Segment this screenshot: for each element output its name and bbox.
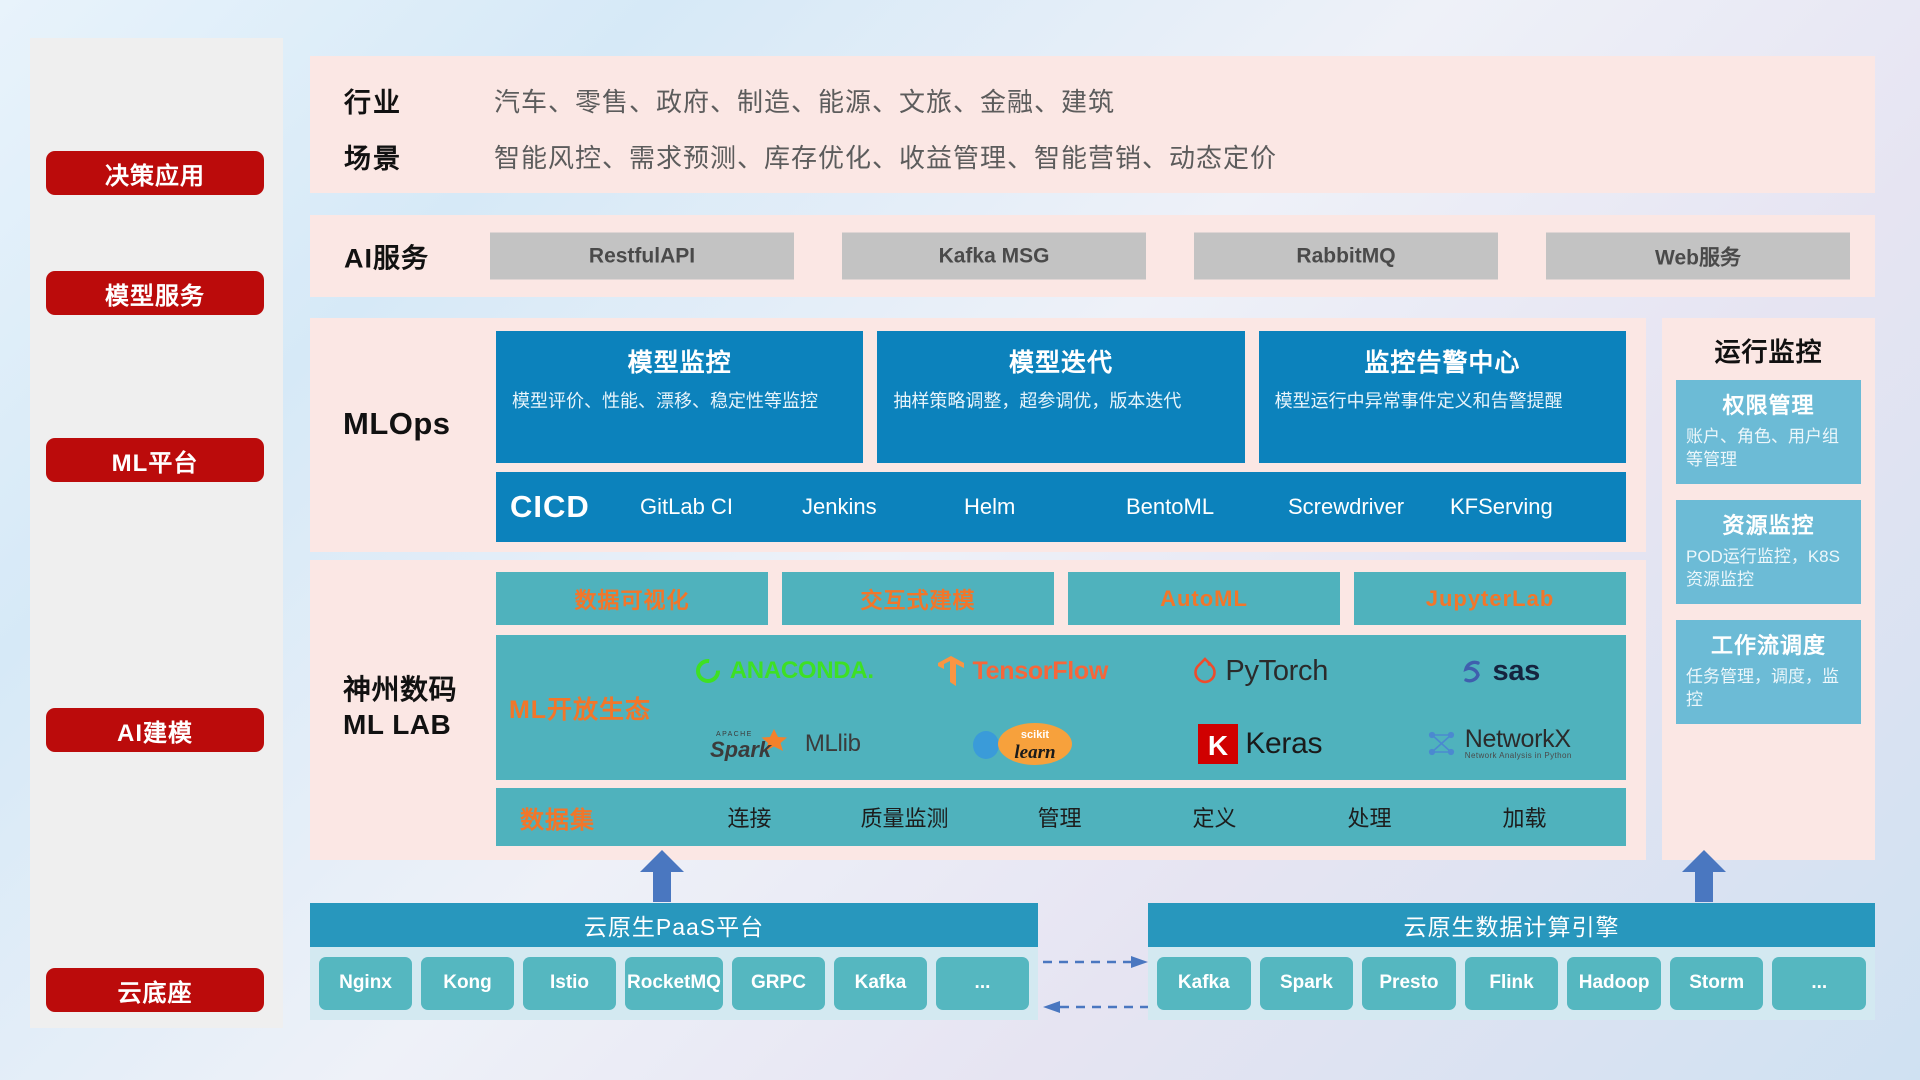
- mlops-panel: MLOps 模型监控 模型评价、性能、漂移、稳定性等监控 模型迭代 抽样策略调整…: [310, 318, 1646, 552]
- rail-label-text: 模型服务: [105, 276, 205, 311]
- rail-label-text: 云底座: [118, 973, 193, 1008]
- sas-logo: sas: [1458, 655, 1541, 688]
- rail-item-decision-app[interactable]: 决策应用: [46, 151, 264, 195]
- dataset-title: 数据集: [520, 800, 672, 835]
- scenario-values: 智能风控、需求预测、库存优化、收益管理、智能营销、动态定价: [494, 138, 1277, 175]
- cloud-native-compute-block: 云原生数据计算引擎 Kafka Spark Presto Flink Hadoo…: [1148, 903, 1875, 1020]
- paas-chip-rocketmq[interactable]: RocketMQ: [625, 957, 723, 1010]
- dashed-arrow-right-icon: [1043, 955, 1143, 957]
- tensorflow-mark-icon: [936, 655, 966, 687]
- eco-logo-grid: ANACONDA. TensorFlow PyTorch: [664, 635, 1626, 780]
- card-desc: 模型运行中异常事件定义和告警提醒: [1275, 389, 1610, 414]
- compute-chip-more[interactable]: ...: [1772, 957, 1866, 1010]
- networkx-tagline: Network Analysis in Python: [1465, 752, 1572, 760]
- keras-wordmark: Keras: [1245, 727, 1322, 761]
- arrow-up-paas-icon: [640, 850, 684, 902]
- card-title: 工作流调度: [1686, 628, 1851, 660]
- spark-mllib-logo: APACHE Spark MLlib: [706, 727, 861, 761]
- compute-chip-kafka[interactable]: Kafka: [1157, 957, 1251, 1010]
- scikit-learn-logo: scikit learn: [969, 721, 1074, 767]
- card-title: 权限管理: [1686, 388, 1851, 420]
- tensorflow-wordmark: TensorFlow: [973, 657, 1108, 686]
- ai-service-kafka-msg[interactable]: Kafka MSG: [842, 233, 1146, 280]
- decision-application-panel: 行业 汽车、零售、政府、制造、能源、文旅、金融、建筑 场景 智能风控、需求预测、…: [310, 56, 1875, 193]
- industry-label: 行业: [310, 81, 494, 120]
- keras-logo: K Keras: [1198, 724, 1322, 764]
- keras-mark-icon: K: [1198, 724, 1238, 764]
- anaconda-logo: ANACONDA.: [693, 656, 874, 686]
- paas-chip-kong[interactable]: Kong: [421, 957, 514, 1010]
- card-title: 模型迭代: [893, 343, 1228, 379]
- dataset-item-processing[interactable]: 处理: [1292, 801, 1447, 833]
- paas-title: 云原生PaaS平台: [310, 903, 1038, 947]
- mllib-wordmark: MLlib: [805, 730, 861, 758]
- spark-mark-icon: APACHE Spark: [706, 727, 798, 761]
- sas-wordmark: sas: [1493, 655, 1541, 688]
- paas-chip-kafka[interactable]: Kafka: [834, 957, 927, 1010]
- svg-text:learn: learn: [1015, 742, 1056, 763]
- compute-chip-storm[interactable]: Storm: [1670, 957, 1764, 1010]
- card-title: 模型监控: [512, 343, 847, 379]
- anaconda-mark-icon: [693, 656, 723, 686]
- tool-automl[interactable]: AutoML: [1068, 572, 1340, 625]
- arrow-up-compute-icon: [1682, 850, 1726, 902]
- mlops-card-model-monitoring[interactable]: 模型监控 模型评价、性能、漂移、稳定性等监控: [496, 331, 863, 463]
- rail-label-text: 决策应用: [105, 156, 205, 191]
- pytorch-logo: PyTorch: [1192, 655, 1328, 688]
- scenario-label: 场景: [310, 137, 494, 176]
- paas-chip-more[interactable]: ...: [936, 957, 1029, 1010]
- pytorch-wordmark: PyTorch: [1225, 655, 1328, 688]
- cicd-item-list: GitLab CI Jenkins Helm BentoML Screwdriv…: [640, 494, 1612, 520]
- cicd-item-helm[interactable]: Helm: [964, 494, 1126, 520]
- cloud-native-paas-block: 云原生PaaS平台 Nginx Kong Istio RocketMQ GRPC…: [310, 903, 1038, 1020]
- mlops-card-list: 模型监控 模型评价、性能、漂移、稳定性等监控 模型迭代 抽样策略调整，超参调优，…: [496, 331, 1626, 463]
- dataset-item-list: 连接 质量监测 管理 定义 处理 加载: [672, 801, 1602, 833]
- rail-item-ml-platform[interactable]: ML平台: [46, 438, 264, 482]
- compute-chip-list: Kafka Spark Presto Flink Hadoop Storm ..…: [1148, 947, 1875, 1020]
- ai-service-web[interactable]: Web服务: [1546, 233, 1850, 280]
- tensorflow-logo: TensorFlow: [936, 655, 1108, 687]
- dataset-item-management[interactable]: 管理: [982, 801, 1137, 833]
- rail-item-model-service[interactable]: 模型服务: [46, 271, 264, 315]
- card-title: 监控告警中心: [1275, 343, 1610, 379]
- cicd-item-jenkins[interactable]: Jenkins: [802, 494, 964, 520]
- diagram-canvas: 决策应用 模型服务 ML平台 AI建模 云底座 行业 汽车、零售、政府、制造、能…: [0, 0, 1920, 1080]
- networkx-logo: NetworkX Network Analysis in Python: [1426, 727, 1572, 760]
- rail-item-ai-modeling[interactable]: AI建模: [46, 708, 264, 752]
- paas-chip-istio[interactable]: Istio: [523, 957, 616, 1010]
- tool-jupyterlab[interactable]: JupyterLab: [1354, 572, 1626, 625]
- dataset-item-connect[interactable]: 连接: [672, 801, 827, 833]
- dashed-arrow-left-icon: [1043, 1000, 1143, 1002]
- ml-lab-label-line2: ML LAB: [343, 707, 457, 742]
- ai-service-rabbitmq[interactable]: RabbitMQ: [1194, 233, 1498, 280]
- ai-service-list: RestfulAPI Kafka MSG RabbitMQ Web服务: [490, 233, 1850, 280]
- monitor-card-workflow[interactable]: 工作流调度 任务管理，调度，监控: [1676, 620, 1861, 724]
- rail-label-text: ML平台: [112, 443, 199, 478]
- pytorch-flame-icon: [1192, 656, 1218, 686]
- cicd-item-bentoml[interactable]: BentoML: [1126, 494, 1288, 520]
- monitor-card-permission[interactable]: 权限管理 账户、角色、用户组等管理: [1676, 380, 1861, 484]
- cicd-item-screwdriver[interactable]: Screwdriver: [1288, 494, 1450, 520]
- mlops-label: MLOps: [343, 406, 451, 442]
- tool-data-visualization[interactable]: 数据可视化: [496, 572, 768, 625]
- card-desc: 账户、角色、用户组等管理: [1686, 426, 1851, 472]
- sas-mark-icon: [1458, 657, 1486, 685]
- compute-chip-hadoop[interactable]: Hadoop: [1567, 957, 1661, 1010]
- ai-service-restfulapi[interactable]: RestfulAPI: [490, 233, 794, 280]
- compute-chip-flink[interactable]: Flink: [1465, 957, 1559, 1010]
- scikit-orange-blob-icon: scikit learn: [996, 721, 1074, 767]
- rail-item-cloud-base[interactable]: 云底座: [46, 968, 264, 1012]
- mlops-card-model-iteration[interactable]: 模型迭代 抽样策略调整，超参调优，版本迭代: [877, 331, 1244, 463]
- card-desc: 抽样策略调整，超参调优，版本迭代: [893, 389, 1228, 414]
- ml-open-ecosystem: ML开放生态 ANACONDA. TensorFlow: [496, 635, 1626, 780]
- networkx-wordmark: NetworkX: [1465, 727, 1572, 752]
- scenario-row: 场景 智能风控、需求预测、库存优化、收益管理、智能营销、动态定价: [310, 130, 1875, 182]
- svg-text:scikit: scikit: [1021, 729, 1049, 741]
- cicd-title: CICD: [510, 489, 640, 525]
- industry-row: 行业 汽车、零售、政府、制造、能源、文旅、金融、建筑: [310, 74, 1875, 126]
- ai-service-panel: AI服务 RestfulAPI Kafka MSG RabbitMQ Web服务: [310, 215, 1875, 297]
- dataset-item-loading[interactable]: 加载: [1447, 801, 1602, 833]
- mlops-card-alert-center[interactable]: 监控告警中心 模型运行中异常事件定义和告警提醒: [1259, 331, 1626, 463]
- compute-chip-spark[interactable]: Spark: [1260, 957, 1354, 1010]
- eco-title: ML开放生态: [496, 690, 664, 726]
- card-title: 资源监控: [1686, 508, 1851, 540]
- card-desc: 任务管理，调度，监控: [1686, 666, 1851, 712]
- cicd-item-gitlab-ci[interactable]: GitLab CI: [640, 494, 802, 520]
- svg-text:Spark: Spark: [710, 737, 773, 761]
- card-desc: 模型评价、性能、漂移、稳定性等监控: [512, 389, 847, 414]
- ai-service-label: AI服务: [344, 237, 429, 276]
- paas-chip-list: Nginx Kong Istio RocketMQ GRPC Kafka ...: [310, 947, 1038, 1020]
- dataset-item-definition[interactable]: 定义: [1137, 801, 1292, 833]
- cicd-bar: CICD GitLab CI Jenkins Helm BentoML Scre…: [496, 472, 1626, 542]
- tool-interactive-modeling[interactable]: 交互式建模: [782, 572, 1054, 625]
- ml-lab-label: 神州数码 ML LAB: [343, 672, 457, 742]
- monitor-card-resource[interactable]: 资源监控 POD运行监控，K8S资源监控: [1676, 500, 1861, 604]
- left-rail: 决策应用 模型服务 ML平台 AI建模 云底座: [30, 38, 283, 1028]
- rail-label-text: AI建模: [117, 713, 193, 748]
- card-desc: POD运行监控，K8S资源监控: [1686, 546, 1851, 592]
- cicd-item-kfserving[interactable]: KFServing: [1450, 494, 1612, 520]
- anaconda-wordmark: ANACONDA.: [730, 657, 874, 685]
- networkx-graph-icon: [1426, 728, 1458, 760]
- compute-engine-title: 云原生数据计算引擎: [1148, 903, 1875, 947]
- dataset-bar: 数据集 连接 质量监测 管理 定义 处理 加载: [496, 788, 1626, 846]
- runtime-monitoring-title: 运行监控: [1662, 332, 1875, 369]
- ml-lab-tool-list: 数据可视化 交互式建模 AutoML JupyterLab: [496, 572, 1626, 625]
- dataset-item-quality-monitoring[interactable]: 质量监测: [827, 801, 982, 833]
- ml-lab-panel: 神州数码 ML LAB 数据可视化 交互式建模 AutoML JupyterLa…: [310, 560, 1646, 860]
- svg-text:K: K: [1208, 730, 1228, 761]
- ml-lab-label-line1: 神州数码: [343, 672, 457, 707]
- paas-chip-nginx[interactable]: Nginx: [319, 957, 412, 1010]
- industry-values: 汽车、零售、政府、制造、能源、文旅、金融、建筑: [494, 82, 1115, 119]
- compute-chip-presto[interactable]: Presto: [1362, 957, 1456, 1010]
- paas-chip-grpc[interactable]: GRPC: [732, 957, 825, 1010]
- runtime-monitoring-panel: 运行监控 权限管理 账户、角色、用户组等管理 资源监控 POD运行监控，K8S资…: [1662, 318, 1875, 860]
